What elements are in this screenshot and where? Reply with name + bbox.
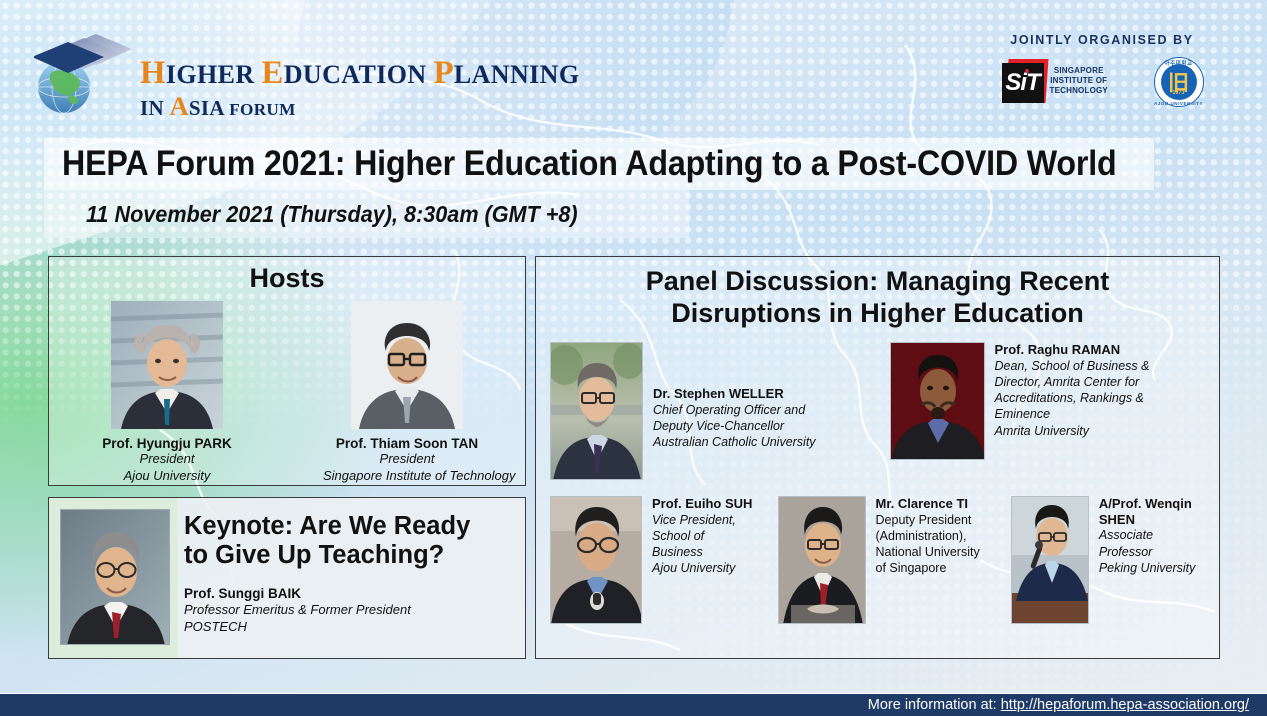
panelist-org: Amrita University bbox=[995, 423, 1150, 439]
portrait-raghu-raman bbox=[891, 343, 985, 460]
keynote-speaker-role: Professor Emeritus & Former President bbox=[184, 601, 514, 618]
page-title: HEPA Forum 2021: Higher Education Adapti… bbox=[62, 144, 1116, 184]
hosts-panel: Hosts bbox=[48, 256, 526, 486]
portrait-stephen-weller bbox=[551, 343, 643, 480]
panelist-card: Prof. Raghu RAMAN Dean, School of Busine… bbox=[890, 342, 1206, 480]
keynote-title-line-2: to Give Up Teaching? bbox=[184, 541, 514, 570]
panelist-org: Ajou University bbox=[652, 560, 752, 576]
event-title-band: HEPA Forum 2021: Higher Education Adapti… bbox=[44, 138, 1154, 190]
ajou-university-seal: 아주대학교 AJOU UNIVERSITY 旧 1973 bbox=[1154, 57, 1204, 107]
event-date-band: 11 November 2021 (Thursday), 8:30am (GMT… bbox=[44, 190, 689, 238]
graduation-cap-globe-icon bbox=[34, 32, 140, 118]
panelist-org: Peking University bbox=[1099, 560, 1196, 576]
panelist-text: Dr. Stephen WELLER Chief Operating Offic… bbox=[653, 342, 816, 480]
event-date: 11 November 2021 (Thursday), 8:30am (GMT… bbox=[86, 201, 578, 228]
panelist-name: Dr. Stephen WELLER bbox=[653, 386, 816, 402]
panelist-card: A/Prof. Wenqin SHEN Associate Professor … bbox=[1011, 496, 1205, 624]
jointly-organised-label: JOINTLY ORGANISED BY bbox=[987, 33, 1217, 47]
panelist-role-line: Associate bbox=[1099, 527, 1196, 543]
avatar bbox=[1011, 496, 1089, 624]
portrait-hyungju-park bbox=[111, 301, 223, 429]
avatar bbox=[778, 496, 866, 624]
panelist-org: Australian Catholic University bbox=[653, 434, 816, 450]
hepa-forum-logo: HIGHER EDUCATION PLANNING IN ASIA FORUM bbox=[34, 32, 454, 122]
logo-wordmark: HIGHER EDUCATION PLANNING IN ASIA FORUM bbox=[140, 57, 579, 123]
panelist-role-line: Accreditations, Rankings & bbox=[995, 390, 1150, 406]
panelist-text: Prof. Raghu RAMAN Dean, School of Busine… bbox=[995, 342, 1150, 480]
panelist-name: Prof. Euiho SUH bbox=[652, 496, 752, 512]
avatar bbox=[550, 342, 643, 480]
panelist-name: Prof. Raghu RAMAN bbox=[995, 342, 1150, 358]
panelist-role-line: National University bbox=[876, 544, 980, 560]
organiser-logos: SiT SINGAPORE INSTITUTE OF TECHNOLOGY 아주… bbox=[987, 57, 1217, 107]
panelist-role-line: Vice President, bbox=[652, 512, 752, 528]
sit-word-line-1: SINGAPORE bbox=[1050, 66, 1108, 76]
panelist-role-line: Deputy Vice-Chancellor bbox=[653, 418, 816, 434]
avatar bbox=[111, 301, 223, 429]
sit-wordmark: SINGAPORE INSTITUTE OF TECHNOLOGY bbox=[1050, 66, 1108, 95]
host-card: Prof. Thiam Soon TAN President Singapore… bbox=[323, 301, 491, 485]
keynote-speaker-name: Prof. Sunggi BAIK bbox=[184, 586, 514, 601]
panelist-row-2: Prof. Euiho SUH Vice President, School o… bbox=[536, 496, 1219, 624]
sit-red-dot bbox=[1025, 69, 1029, 73]
panelist-name: Mr. Clarence TI bbox=[876, 496, 980, 512]
panelist-card: Dr. Stephen WELLER Chief Operating Offic… bbox=[550, 342, 866, 480]
poster-canvas: HIGHER EDUCATION PLANNING IN ASIA FORUM … bbox=[0, 0, 1267, 716]
portrait-sunggi-baik bbox=[61, 510, 170, 645]
host-org: Singapore Institute of Technology bbox=[323, 468, 491, 485]
panelist-role-line: Chief Operating Officer and bbox=[653, 402, 816, 418]
host-role: President bbox=[83, 451, 251, 468]
panelist-role-line: Dean, School of Business & bbox=[995, 358, 1150, 374]
keynote-title-line-1: Keynote: Are We Ready bbox=[184, 512, 514, 541]
sit-logo: SiT SINGAPORE INSTITUTE OF TECHNOLOGY bbox=[1001, 58, 1116, 106]
panelist-role-line: Director, Amrita Center for bbox=[995, 374, 1150, 390]
host-role: President bbox=[323, 451, 491, 468]
avatar bbox=[550, 496, 642, 624]
portrait-clarence-ti bbox=[779, 497, 866, 624]
panel-title-line-1: Panel Discussion: Managing Recent bbox=[576, 266, 1179, 298]
panelist-card: Prof. Euiho SUH Vice President, School o… bbox=[550, 496, 766, 624]
ajou-english-text: AJOU UNIVERSITY bbox=[1154, 101, 1204, 106]
sit-monogram: SiT bbox=[1002, 63, 1044, 103]
sit-word-line-2: INSTITUTE OF bbox=[1050, 76, 1108, 86]
panelist-role-line: Deputy President bbox=[876, 512, 980, 528]
avatar bbox=[351, 301, 463, 429]
keynote-speaker-org: POSTECH bbox=[184, 618, 514, 635]
portrait-wenqin-shen bbox=[1012, 497, 1089, 624]
panel-title-line-2: Disruptions in Higher Education bbox=[576, 298, 1179, 330]
hosts-row: Prof. Hyungju PARK President Ajou Univer… bbox=[49, 301, 525, 485]
jointly-organised-block: JOINTLY ORGANISED BY SiT SINGAPORE INSTI… bbox=[987, 33, 1217, 107]
panelist-role-line: Business bbox=[652, 544, 752, 560]
host-org: Ajou University bbox=[83, 468, 251, 485]
panelist-name-line-2: SHEN bbox=[1099, 512, 1196, 528]
hepa-forum-link[interactable]: http://hepaforum.hepa-association.org/ bbox=[1001, 697, 1249, 713]
panelist-row-1: Dr. Stephen WELLER Chief Operating Offic… bbox=[536, 342, 1219, 480]
avatar bbox=[890, 342, 985, 460]
logo-line-1: HIGHER EDUCATION PLANNING bbox=[140, 57, 579, 90]
sit-word-line-3: TECHNOLOGY bbox=[1050, 86, 1108, 96]
panelist-role-line: Eminence bbox=[995, 406, 1150, 422]
ajou-founding-year: 1973 bbox=[1154, 90, 1204, 96]
keynote-title: Keynote: Are We Ready to Give Up Teachin… bbox=[184, 512, 514, 570]
portrait-euiho-suh bbox=[551, 497, 642, 624]
host-card: Prof. Hyungju PARK President Ajou Univer… bbox=[83, 301, 251, 485]
panel-discussion-panel: Panel Discussion: Managing Recent Disrup… bbox=[535, 256, 1220, 659]
footer-text: More information at: http://hepaforum.he… bbox=[868, 697, 1249, 713]
logo-line-2: IN ASIA FORUM bbox=[140, 90, 579, 123]
hosts-title: Hosts bbox=[49, 263, 525, 294]
panelist-text: Prof. Euiho SUH Vice President, School o… bbox=[652, 496, 752, 624]
footer-prefix: More information at: bbox=[868, 697, 1001, 713]
panelist-text: Mr. Clarence TI Deputy President (Admini… bbox=[876, 496, 980, 624]
host-name: Prof. Hyungju PARK bbox=[83, 436, 251, 451]
panel-discussion-title: Panel Discussion: Managing Recent Disrup… bbox=[536, 266, 1219, 330]
panelist-org: of Singapore bbox=[876, 560, 980, 576]
avatar bbox=[60, 509, 170, 645]
panelist-role-line: Professor bbox=[1099, 544, 1196, 560]
host-name: Prof. Thiam Soon TAN bbox=[323, 436, 491, 451]
panelist-role-line: School of bbox=[652, 528, 752, 544]
panelist-name-line-1: A/Prof. Wenqin bbox=[1099, 496, 1196, 512]
keynote-panel: Keynote: Are We Ready to Give Up Teachin… bbox=[48, 497, 526, 659]
panelist-text: A/Prof. Wenqin SHEN Associate Professor … bbox=[1099, 496, 1196, 624]
footer-bar: More information at: http://hepaforum.he… bbox=[0, 693, 1267, 716]
portrait-thiam-soon-tan bbox=[351, 301, 463, 429]
panelist-role-line: (Administration), bbox=[876, 528, 980, 544]
panelist-card: Mr. Clarence TI Deputy President (Admini… bbox=[778, 496, 999, 624]
